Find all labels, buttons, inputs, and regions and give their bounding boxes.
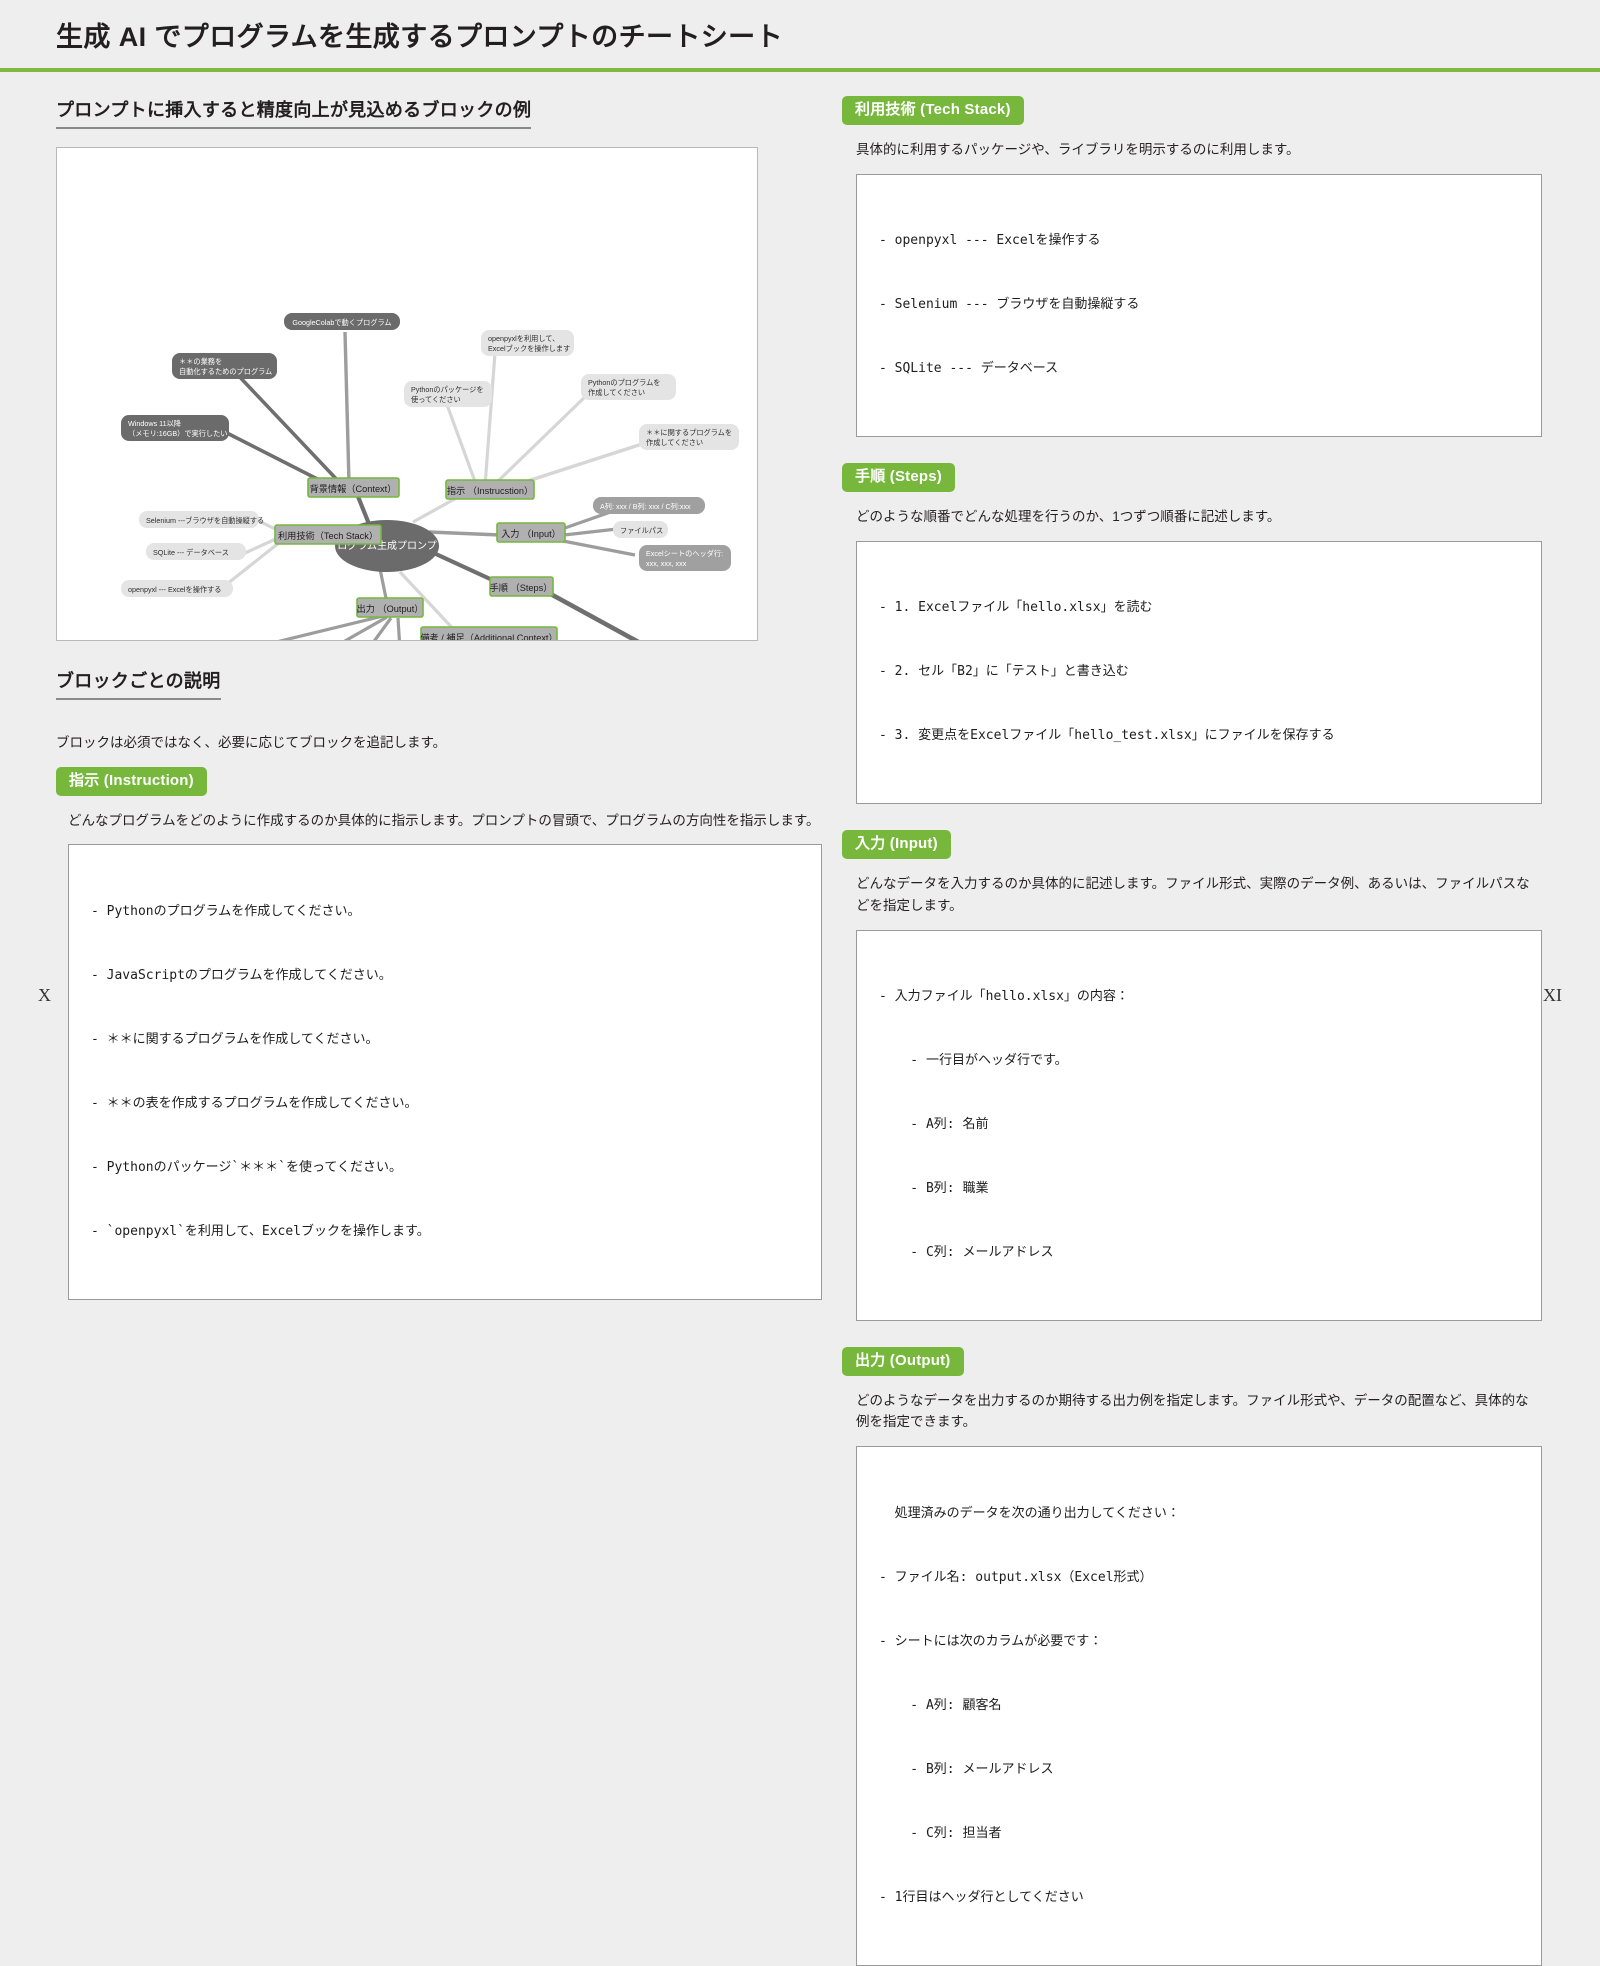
mindmap-branch-output: 出力 （Output） [357, 598, 424, 617]
code-line: ‐ A列: 名前 [879, 1114, 1519, 1135]
badge-tech-stack: 利用技術 (Tech Stack) [842, 96, 1024, 125]
code-line: ‐ A列: 顧客名 [879, 1695, 1519, 1716]
mindmap-leaf-sqlite: SQLite --- データベース [146, 543, 246, 560]
code-line: ‐ 一行目がヘッダ行です。 [879, 1050, 1519, 1071]
mindmap-edges-instruction [446, 353, 645, 490]
branch-label-context: 背景情報（Context） [310, 483, 397, 494]
leaf-label: Selenium ---ブラウザを自動操縦する [146, 516, 264, 525]
mindmap-leaf-about-program: ＊＊に関するプログラムを 作成してください [639, 424, 739, 450]
right-column: 利用技術 (Tech Stack) 具体的に利用するパッケージや、ライブラリを明… [842, 96, 1600, 972]
code-line: ‐ `openpyxl`を利用して、Excelブックを操作します。 [91, 1221, 799, 1242]
block-output: 出力 (Output) どのようなデータを出力するのか期待する出力例を指定します… [842, 1347, 1542, 1966]
leaf-label: ＊＊の業務を [179, 357, 222, 366]
mindmap-branch-techstack: 利用技術（Tech Stack） [275, 525, 381, 544]
leaf-label: xxx, xxx, xxx [646, 559, 687, 568]
mindmap-branch-steps: 手順 （Steps） [490, 577, 553, 596]
mindmap-leaf-openpyxl: openpyxl --- Excelを操作する [121, 580, 233, 597]
explain-lead: ブロックは必須ではなく、必要に応じてブロックを追記します。 [56, 732, 822, 754]
page-body: プロンプトに挿入すると精度向上が見込めるブロックの例 .edge-d { str… [0, 72, 1600, 972]
leaf-label: Excelブックを操作します [488, 344, 570, 353]
mindmap-edges-output [217, 616, 406, 640]
page-header: 生成 AI でプログラムを生成するプロンプトのチートシート [0, 0, 1600, 68]
code-line: ‐ C列: 担当者 [879, 1823, 1519, 1844]
code-line: ‐ C列: メールアドレス [879, 1242, 1519, 1263]
leaf-label: （メモリ:16GB）で実行したい [128, 429, 227, 438]
block-explanations: ブロックごとの説明 ブロックは必須ではなく、必要に応じてブロックを追記します。 … [56, 667, 822, 1300]
mindmap-diagram: .edge-d { stroke:#6f6f6f; fill:none; } .… [56, 147, 758, 641]
tech-stack-description: 具体的に利用するパッケージや、ライブラリを明示するのに利用します。 [856, 139, 1542, 161]
mindmap-leaf-openpyxl-excel: openpyxlを利用して、 Excelブックを操作します [481, 330, 574, 356]
leaf-label: Windows 11以降 [128, 419, 181, 428]
output-code-block: 処理済みのデータを次の通り出力してください： ‐ ファイル名: output.x… [856, 1446, 1542, 1965]
leaf-label: openpyxlを利用して、 [488, 334, 559, 343]
branch-label-additional: 備考 / 補足（Additional Context） [420, 632, 557, 640]
footer-page-right: XI [1543, 985, 1562, 1006]
mindmap-leaf-py-program: Pythonのプログラムを 作成してください [581, 374, 676, 400]
leaf-label: Pythonのパッケージを [411, 385, 484, 394]
code-line: ‐ 1行目はヘッダ行としてください [879, 1887, 1519, 1908]
branch-label-input: 入力 （Input） [501, 528, 561, 539]
code-line: ‐ 1. Excelファイル「hello.xlsx」を読む [879, 597, 1519, 618]
block-instruction: 指示 (Instruction) どんなプログラムをどのように作成するのか具体的… [56, 767, 822, 1300]
badge-steps: 手順 (Steps) [842, 463, 955, 492]
leaf-label: openpyxl --- Excelを操作する [128, 585, 221, 594]
code-line: ‐ JavaScriptのプログラムを作成してください。 [91, 965, 799, 986]
mindmap-leaf-automation: ＊＊の業務を 自動化するためのプログラム [172, 353, 277, 379]
page-footer: X XI [0, 985, 1600, 1006]
leaf-label: 使ってください [411, 395, 461, 404]
code-line: ‐ シートには次のカラムが必要です： [879, 1631, 1519, 1652]
mindmap-leaf-colab: GoogleColabで動くプログラム [284, 313, 400, 330]
tech-stack-code-block: ‐ openpyxl --- Excelを操作する ‐ Selenium ---… [856, 174, 1542, 437]
code-line: ‐ B列: メールアドレス [879, 1759, 1519, 1780]
code-line: ‐ ＊＊に関するプログラムを作成してください。 [91, 1029, 799, 1050]
badge-instruction: 指示 (Instruction) [56, 767, 207, 796]
instruction-code-block: ‐ Pythonのプログラムを作成してください。 ‐ JavaScriptのプロ… [68, 844, 822, 1299]
badge-input: 入力 (Input) [842, 830, 951, 859]
mindmap-branch-input: 入力 （Input） [497, 523, 565, 542]
leaf-label: GoogleColabで動くプログラム [292, 318, 391, 327]
leaf-label: 作成してください [588, 388, 645, 397]
leaf-label: ファイルパス [620, 526, 663, 535]
code-line: ‐ Pythonのパッケージ`＊＊＊`を使ってください。 [91, 1157, 799, 1178]
code-line: ‐ openpyxl --- Excelを操作する [879, 230, 1519, 251]
leaf-label: Pythonのプログラムを [588, 378, 660, 387]
code-line: ‐ SQLite --- データベース [879, 358, 1519, 379]
mindmap-leaf-columns: A列: xxx / B列: xxx / C列:xxx [593, 497, 705, 514]
steps-code-block: ‐ 1. Excelファイル「hello.xlsx」を読む ‐ 2. セル「B2… [856, 541, 1542, 804]
mindmap-edges-steps [547, 592, 664, 640]
mindmap-leaf-filepath-input: ファイルパス [613, 521, 668, 538]
page-title: 生成 AI でプログラムを生成するプロンプトのチートシート [56, 15, 783, 54]
branch-label-steps: 手順 （Steps） [490, 582, 553, 593]
leaf-label: SQLite --- データベース [153, 548, 229, 557]
code-line: ‐ Pythonのプログラムを作成してください。 [91, 901, 799, 922]
mindmap-leaf-windows: Windows 11以降 （メモリ:16GB）で実行したい [121, 415, 229, 441]
mindmap-leaf-selenium: Selenium ---ブラウザを自動操縦する [139, 511, 264, 528]
code-line: ‐ Selenium --- ブラウザを自動操縦する [879, 294, 1519, 315]
instruction-description: どんなプログラムをどのように作成するのか具体的に指示します。プロンプトの冒頭で、… [68, 810, 822, 832]
left-section-heading: プロンプトに挿入すると精度向上が見込めるブロックの例 [56, 96, 531, 129]
branch-label-output: 出力 （Output） [357, 603, 424, 614]
code-line: ‐ ファイル名: output.xlsx（Excel形式） [879, 1567, 1519, 1588]
badge-output: 出力 (Output) [842, 1347, 964, 1376]
code-line: ‐ 2. セル「B2」に「テスト」と書き込む [879, 661, 1519, 682]
steps-description: どのような順番でどんな処理を行うのか、1つずつ順番に記述します。 [856, 506, 1542, 528]
mindmap-branch-context: 背景情報（Context） [308, 478, 399, 497]
leaf-label: 自動化するためのプログラム [179, 367, 272, 376]
block-steps: 手順 (Steps) どのような順番でどんな処理を行うのか、1つずつ順番に記述し… [842, 463, 1542, 804]
leaf-label: ＊＊に関するプログラムを [646, 428, 732, 437]
block-input: 入力 (Input) どんなデータを入力するのか具体的に記述します。ファイル形式… [842, 830, 1542, 1321]
block-tech-stack: 利用技術 (Tech Stack) 具体的に利用するパッケージや、ライブラリを明… [842, 96, 1542, 437]
mindmap-branch-instruction: 指示 （Instrucstion） [446, 480, 534, 499]
code-line: 処理済みのデータを次の通り出力してください： [879, 1503, 1519, 1524]
branch-label-techstack: 利用技術（Tech Stack） [278, 530, 378, 541]
explain-heading: ブロックごとの説明 [56, 667, 221, 700]
mindmap-leaf-py-package: Pythonのパッケージを 使ってください [404, 381, 492, 407]
output-description: どのようなデータを出力するのか期待する出力例を指定します。ファイル形式や、データ… [856, 1390, 1542, 1434]
branch-label-instruction: 指示 （Instrucstion） [447, 485, 533, 496]
input-description: どんなデータを入力するのか具体的に記述します。ファイル形式、実際のデータ例、ある… [856, 873, 1542, 917]
code-line: ‐ 3. 変更点をExcelファイル「hello_test.xlsx」にファイル… [879, 725, 1519, 746]
left-column: プロンプトに挿入すると精度向上が見込めるブロックの例 .edge-d { str… [0, 96, 842, 972]
mindmap-leaf-header-row: Excelシートのヘッダ行: xxx, xxx, xxx [639, 545, 731, 571]
leaf-label: A列: xxx / B列: xxx / C列:xxx [600, 502, 691, 511]
leaf-label: 作成してください [646, 438, 703, 447]
mindmap-branch-additional: 備考 / 補足（Additional Context） [420, 627, 557, 640]
code-line: ‐ ＊＊の表を作成するプログラムを作成してください。 [91, 1093, 799, 1114]
footer-page-left: X [38, 985, 51, 1006]
code-line: ‐ B列: 職業 [879, 1178, 1519, 1199]
leaf-label: Excelシートのヘッダ行: [646, 549, 723, 558]
